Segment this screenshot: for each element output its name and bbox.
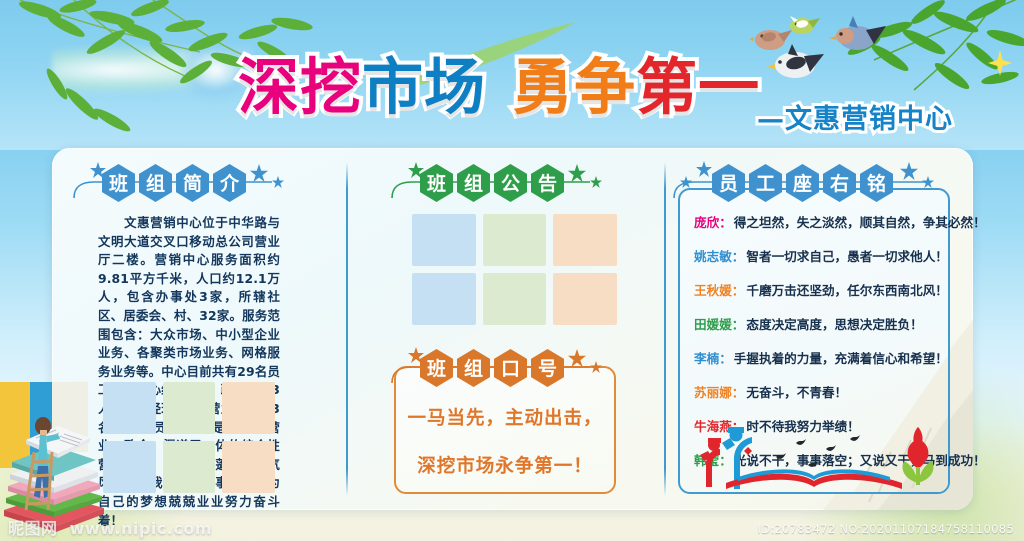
slogan-heading-hexes: 班 组 口 号	[420, 349, 564, 387]
title-char-6: 争	[574, 48, 636, 128]
slogan-lines: 一马当先，主动出击， 深挖市场永争第一！	[394, 404, 616, 478]
photo-placeholder[interactable]	[483, 273, 547, 325]
poster-canvas: 深挖市场勇争第一 —文惠营销中心	[0, 0, 1024, 541]
motto-item: 王秋媛： 千磨万击还坚劲，任尔东西南北风！	[694, 280, 946, 299]
hex-char: 组	[139, 164, 172, 202]
photo-placeholder[interactable]	[163, 382, 216, 434]
motto-item: 庞欣： 得之坦然，失之淡然，顺其自然，争其必然！	[694, 212, 946, 231]
motto-name: 庞欣：	[694, 212, 732, 231]
notice-heading-hexes: 班 组 公 告	[420, 164, 564, 202]
intro-section-heading: 班 组 简 介	[72, 164, 284, 204]
motto-item: 田媛媛： 态度决定高度，思想决定胜负！	[694, 314, 946, 333]
notice-photo-grid	[412, 214, 617, 325]
title-char-1: 深	[238, 48, 300, 128]
photo-placeholder[interactable]	[222, 441, 275, 493]
open-book	[726, 469, 902, 489]
star-icon-right-2	[590, 361, 602, 373]
motto-item: 李楠： 手握执着的力量，充满着信心和希望！	[694, 348, 946, 367]
watermark-id: ID:20783472 NO:20201107184758110085	[758, 522, 1014, 536]
slogan-section-heading: 班 组 口 号	[390, 349, 602, 389]
mottos-heading-hexes: 员 工 座 右 铭	[712, 164, 893, 202]
star-icon-right-1	[568, 349, 586, 367]
star-icon-right-2	[922, 176, 934, 188]
slogan-line-2: 深挖市场永争第一！	[394, 452, 616, 478]
title-char-2: 挖	[300, 48, 362, 128]
star-icon-right-1	[250, 164, 268, 182]
hex-char: 号	[531, 349, 564, 387]
hex-char: 工	[749, 164, 782, 202]
star-icon-right-1	[900, 162, 918, 180]
photo-placeholder[interactable]	[222, 382, 275, 434]
motto-text: 千磨万击还坚劲，任尔东西南北风！	[746, 280, 948, 299]
hex-char: 介	[213, 164, 246, 202]
intro-heading-hexes: 班 组 简 介	[102, 164, 246, 202]
hex-char: 铭	[860, 164, 893, 202]
motto-text: 得之坦然，失之淡然，顺其自然，争其必然！	[734, 212, 986, 231]
star-icon-right-1	[568, 164, 586, 182]
star-icon-right-2	[272, 176, 284, 188]
hex-char: 组	[457, 349, 490, 387]
hex-char: 告	[531, 164, 564, 202]
motto-text: 手握执着的力量，充满着信心和希望！	[734, 348, 948, 367]
motto-item: 姚志敏： 智者一切求自己，愚者一切求他人！	[694, 246, 946, 265]
photo-placeholder[interactable]	[163, 441, 216, 493]
watermark-site: 昵图网 www.nipic.com	[8, 515, 212, 539]
watermark-brand: 昵图网	[8, 519, 58, 538]
hex-char: 班	[420, 164, 453, 202]
hex-char: 座	[786, 164, 819, 202]
motto-name: 姚志敏：	[694, 246, 744, 265]
hex-char: 口	[494, 349, 527, 387]
column-divider-2	[664, 162, 666, 496]
hex-char: 班	[420, 349, 453, 387]
title-char-8: 一	[698, 48, 760, 128]
title-char-3: 市	[362, 48, 424, 128]
intro-photo-grid	[103, 382, 275, 493]
title-char-4: 场	[424, 48, 486, 128]
motto-text: 无奋斗，不青春！	[746, 382, 847, 401]
star-icon-left-2	[696, 161, 712, 177]
tulip-illustration	[903, 427, 934, 485]
hex-char: 组	[457, 164, 490, 202]
motto-name: 王秋媛：	[694, 280, 744, 299]
star-icon-left-1	[680, 176, 692, 188]
motto-name: 苏丽娜：	[694, 382, 744, 401]
photo-placeholder[interactable]	[553, 214, 617, 266]
hex-char: 班	[102, 164, 135, 202]
title-char-5: 勇	[512, 48, 574, 128]
person-reading-on-book-stack-illustration	[0, 382, 116, 532]
mottos-section-heading: 员 工 座 右 铭	[672, 164, 940, 204]
star-icon-right-2	[590, 176, 602, 188]
hex-char: 右	[823, 164, 856, 202]
photo-placeholder[interactable]	[412, 273, 476, 325]
photo-placeholder[interactable]	[412, 214, 476, 266]
title-char-7: 第	[636, 48, 698, 128]
notice-section-heading: 班 组 公 告	[390, 164, 602, 204]
photo-placeholder[interactable]	[553, 273, 617, 325]
photo-placeholder[interactable]	[483, 214, 547, 266]
flying-birds	[776, 435, 860, 467]
hex-char: 公	[494, 164, 527, 202]
slogan-line-1: 一马当先，主动出击，	[394, 404, 616, 430]
sparkle-red	[744, 447, 752, 455]
motto-name: 李楠：	[694, 348, 732, 367]
poster-subtitle: —文惠营销中心	[757, 97, 953, 136]
motto-item: 苏丽娜： 无奋斗，不青春！	[694, 382, 946, 401]
column-divider-1	[346, 162, 348, 496]
hex-char: 员	[712, 164, 745, 202]
motto-text: 智者一切求自己，愚者一切求他人！	[746, 246, 948, 265]
motto-name: 田媛媛：	[694, 314, 744, 333]
graduation-illustration	[690, 425, 940, 495]
motto-text: 态度决定高度，思想决定胜负！	[746, 314, 922, 333]
graduate-red-figure	[700, 438, 721, 487]
hex-char: 简	[176, 164, 209, 202]
watermark-url: www.nipic.com	[70, 519, 212, 538]
